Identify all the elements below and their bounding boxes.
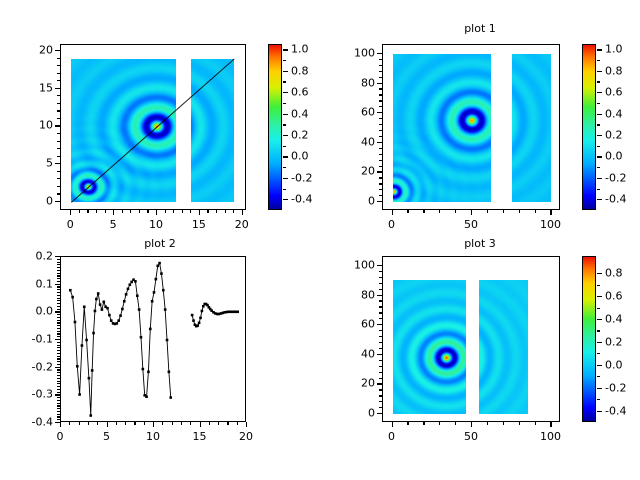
data-point-marker	[192, 319, 195, 322]
xtick-minor-plot-2	[134, 422, 135, 425]
data-point-marker	[191, 314, 194, 317]
data-point-marker	[155, 278, 158, 281]
ytick-label-plot-0-4: 20	[39, 44, 53, 57]
ytick-minor-plot-1	[379, 77, 382, 78]
xtick-major-plot-2-0	[60, 422, 61, 427]
xtick-minor-plot-0	[130, 210, 131, 213]
ytick-minor-plot-2	[57, 264, 60, 265]
colorbar-tick-minor-plot-1	[597, 146, 600, 147]
ytick-minor-plot-2	[57, 336, 60, 337]
ytick-minor-plot-2	[57, 350, 60, 351]
ytick-label-plot-2-6: 0.2	[36, 250, 54, 263]
ytick-minor-plot-1	[379, 71, 382, 72]
ytick-minor-plot-0	[57, 103, 60, 104]
colorbar-tick-plot-0-1	[283, 178, 288, 179]
data-point-marker	[117, 319, 120, 322]
plot-frame-plot-0	[60, 44, 246, 210]
data-point-marker	[158, 262, 161, 265]
ytick-label-plot-3-0: 0	[368, 407, 375, 420]
ytick-minor-plot-2	[57, 375, 60, 376]
ytick-major-plot-1-2	[377, 142, 382, 143]
ytick-minor-plot-2	[57, 303, 60, 304]
xtick-major-plot-3-1	[471, 422, 472, 427]
ytick-minor-plot-2	[57, 419, 60, 420]
ytick-minor-plot-3	[379, 300, 382, 301]
xtick-minor-plot-0	[225, 210, 226, 213]
heatmap-block-plot-0-0	[71, 59, 176, 202]
xtick-major-plot-2-2	[153, 422, 154, 427]
plot-frame-plot-2	[60, 256, 246, 422]
ytick-minor-plot-2	[57, 345, 60, 346]
ytick-label-plot-2-4: 0.0	[36, 305, 54, 318]
xtick-major-plot-1-1	[471, 210, 472, 215]
data-point-marker	[201, 310, 204, 313]
ytick-minor-plot-2	[57, 342, 60, 343]
xtick-label-plot-2-2: 10	[146, 430, 160, 443]
data-point-marker	[94, 310, 97, 313]
plot-frame-plot-1	[382, 44, 560, 210]
ytick-major-plot-2-2	[55, 367, 60, 368]
data-point-marker	[149, 328, 152, 331]
xtick-minor-plot-0	[165, 210, 166, 213]
colorbar-tick-minor-plot-1	[597, 189, 600, 190]
ytick-minor-plot-3	[379, 378, 382, 379]
ytick-minor-plot-2	[57, 295, 60, 296]
xtick-major-plot-2-4	[246, 422, 247, 427]
colorbar-tick-minor-plot-3	[597, 353, 600, 354]
xtick-minor-plot-0	[122, 210, 123, 213]
ytick-minor-plot-2	[57, 383, 60, 384]
xtick-minor-plot-0	[207, 210, 208, 213]
ytick-minor-plot-3	[379, 372, 382, 373]
ytick-minor-plot-3	[379, 401, 382, 402]
ytick-minor-plot-1	[379, 148, 382, 149]
xtick-major-plot-2-1	[107, 422, 108, 427]
heatmap-image-plot-0-0	[71, 59, 176, 202]
data-point-marker	[76, 365, 79, 368]
xtick-major-plot-0-2	[156, 210, 157, 215]
ytick-minor-plot-1	[379, 130, 382, 131]
ytick-major-plot-1-0	[377, 201, 382, 202]
heatmap-image-plot-1-1	[512, 54, 551, 202]
data-point-marker	[142, 368, 145, 371]
data-point-marker	[108, 314, 111, 317]
colorbar-label-plot-3-2: 0.0	[605, 358, 623, 371]
ytick-label-plot-1-5: 100	[354, 46, 375, 59]
colorbar-label-plot-3-3: 0.2	[605, 335, 623, 348]
panel-title-plot-3: plot 3	[320, 237, 640, 250]
ytick-label-plot-2-5: 0.1	[36, 277, 54, 290]
data-point-marker	[156, 265, 159, 268]
ytick-minor-plot-2	[57, 378, 60, 379]
colorbar-tick-plot-1-0	[597, 199, 602, 200]
ytick-minor-plot-2	[57, 403, 60, 404]
colorbar-tick-minor-plot-0	[283, 146, 286, 147]
ytick-label-plot-2-3: -0.1	[32, 333, 53, 346]
ytick-minor-plot-1	[379, 195, 382, 196]
xtick-minor-plot-2	[162, 422, 163, 425]
xtick-minor-plot-2	[116, 422, 117, 425]
colorbar-tick-plot-3-3	[597, 342, 602, 343]
panel-lineplot-plot-2: plot 2 -0.4-0.3-0.2-0.10.00.10.205101520	[0, 236, 320, 480]
xtick-minor-plot-1	[439, 210, 440, 213]
ytick-minor-plot-2	[57, 369, 60, 370]
xtick-label-plot-3-2: 100	[540, 430, 561, 443]
heatmap-image-plot-1-0	[393, 54, 491, 202]
data-point-marker	[166, 339, 169, 342]
ytick-major-plot-3-1	[377, 383, 382, 384]
ytick-minor-plot-2	[57, 270, 60, 271]
data-point-marker	[129, 283, 132, 286]
data-point-marker	[74, 321, 77, 324]
xtick-minor-plot-3	[535, 422, 536, 425]
data-point-marker	[160, 272, 163, 275]
xtick-major-plot-0-1	[113, 210, 114, 215]
colorbar-label-plot-3-6: 0.8	[605, 267, 623, 280]
ytick-minor-plot-2	[57, 317, 60, 318]
ytick-minor-plot-3	[379, 330, 382, 331]
data-point-marker	[147, 371, 150, 374]
heatmap-block-plot-0-1	[191, 59, 234, 202]
xtick-minor-plot-3	[439, 422, 440, 425]
data-point-marker	[101, 308, 104, 311]
ytick-minor-plot-3	[379, 407, 382, 408]
colorbar-tick-minor-plot-0	[283, 103, 286, 104]
ytick-minor-plot-1	[379, 106, 382, 107]
data-point-marker	[134, 280, 137, 283]
xtick-minor-plot-2	[69, 422, 70, 425]
xtick-major-plot-0-4	[242, 210, 243, 215]
xtick-label-plot-3-0: 0	[388, 430, 395, 443]
colorbar-plot-0	[268, 44, 282, 210]
ytick-minor-plot-2	[57, 358, 60, 359]
ytick-minor-plot-3	[379, 395, 382, 396]
ytick-minor-plot-3	[379, 366, 382, 367]
ytick-major-plot-2-3	[55, 339, 60, 340]
ytick-minor-plot-0	[57, 118, 60, 119]
ytick-minor-plot-1	[379, 160, 382, 161]
ytick-minor-plot-0	[57, 148, 60, 149]
data-point-marker	[119, 314, 122, 317]
xtick-label-plot-0-4: 20	[235, 218, 249, 231]
data-point-marker	[110, 319, 113, 322]
xtick-minor-plot-3	[487, 422, 488, 425]
xtick-minor-plot-1	[519, 210, 520, 213]
ytick-minor-plot-2	[57, 389, 60, 390]
ytick-major-plot-2-4	[55, 311, 60, 312]
ytick-major-plot-2-5	[55, 284, 60, 285]
ytick-minor-plot-2	[57, 331, 60, 332]
colorbar-tick-plot-3-1	[597, 388, 602, 389]
colorbar-label-plot-1-3: 0.2	[605, 129, 623, 142]
xtick-major-plot-0-0	[70, 210, 71, 215]
ytick-minor-plot-2	[57, 364, 60, 365]
ytick-minor-plot-0	[57, 133, 60, 134]
ytick-major-plot-1-1	[377, 171, 382, 172]
ytick-minor-plot-3	[379, 389, 382, 390]
heatmap-image-plot-0-1	[191, 59, 234, 202]
ytick-minor-plot-2	[57, 286, 60, 287]
ytick-minor-plot-3	[379, 271, 382, 272]
colorbar-tick-plot-3-0	[597, 411, 602, 412]
colorbar-tick-plot-0-2	[283, 156, 288, 157]
data-point-marker	[99, 303, 102, 306]
ytick-minor-plot-1	[379, 88, 382, 89]
data-point-marker	[236, 310, 239, 313]
colorbar-tick-plot-1-3	[597, 135, 602, 136]
panel-title-plot-1: plot 1	[320, 22, 640, 35]
data-point-marker	[106, 307, 109, 310]
ytick-minor-plot-2	[57, 353, 60, 354]
ytick-minor-plot-3	[379, 277, 382, 278]
ytick-minor-plot-3	[379, 283, 382, 284]
colorbar-tick-plot-1-2	[597, 156, 602, 157]
ytick-minor-plot-0	[57, 80, 60, 81]
ytick-minor-plot-1	[379, 124, 382, 125]
colorbar-label-plot-3-5: 0.6	[605, 290, 623, 303]
xtick-label-plot-0-1: 5	[110, 218, 117, 231]
ytick-minor-plot-2	[57, 400, 60, 401]
xtick-label-plot-2-1: 5	[103, 430, 110, 443]
ytick-major-plot-3-4	[377, 295, 382, 296]
ytick-minor-plot-2	[57, 278, 60, 279]
data-point-marker	[198, 322, 201, 325]
ytick-minor-plot-2	[57, 392, 60, 393]
heatmap-block-plot-3-0	[393, 280, 466, 414]
colorbar-label-plot-3-0: -0.4	[605, 404, 626, 417]
colorbar-tick-minor-plot-0	[283, 81, 286, 82]
colorbar-label-plot-0-7: 1.0	[291, 43, 309, 56]
data-point-marker	[140, 336, 143, 339]
colorbar-tick-minor-plot-0	[283, 189, 286, 190]
xtick-minor-plot-3	[423, 422, 424, 425]
colorbar-tick-minor-plot-0	[283, 167, 286, 168]
xtick-minor-plot-2	[79, 422, 80, 425]
ytick-minor-plot-2	[57, 333, 60, 334]
data-point-marker	[199, 317, 202, 320]
ytick-minor-plot-0	[57, 110, 60, 111]
data-point-marker	[169, 396, 172, 399]
data-point-marker	[83, 306, 86, 309]
data-point-marker	[88, 377, 91, 380]
ytick-minor-plot-0	[57, 171, 60, 172]
data-point-marker	[136, 294, 139, 297]
xtick-minor-plot-0	[182, 210, 183, 213]
colorbar-tick-plot-3-4	[597, 319, 602, 320]
ytick-minor-plot-1	[379, 65, 382, 66]
ytick-label-plot-0-0: 0	[46, 194, 53, 207]
xtick-minor-plot-0	[147, 210, 148, 213]
ytick-minor-plot-3	[379, 348, 382, 349]
ytick-major-plot-1-3	[377, 112, 382, 113]
data-point-marker	[121, 308, 124, 311]
xtick-minor-plot-0	[79, 210, 80, 213]
colorbar-label-plot-0-0: -0.4	[291, 193, 312, 206]
data-point-marker	[116, 322, 119, 325]
xtick-minor-plot-2	[172, 422, 173, 425]
colorbar-tick-minor-plot-3	[597, 285, 600, 286]
heatmap-image-plot-3-1	[479, 280, 528, 414]
panel-heatmap-plot-3: plot 3 020406080100050100-0.4-0.20.00.20…	[320, 236, 640, 480]
ytick-major-plot-3-0	[377, 413, 382, 414]
xtick-label-plot-3-1: 50	[464, 430, 478, 443]
data-point-marker	[69, 289, 72, 292]
ytick-minor-plot-2	[57, 328, 60, 329]
colorbar-tick-plot-1-5	[597, 92, 602, 93]
xtick-minor-plot-1	[535, 210, 536, 213]
ytick-minor-plot-2	[57, 306, 60, 307]
colorbar-tick-plot-1-1	[597, 178, 602, 179]
xtick-minor-plot-3	[407, 422, 408, 425]
ytick-minor-plot-3	[379, 289, 382, 290]
ytick-label-plot-3-2: 40	[361, 347, 375, 360]
ytick-minor-plot-2	[57, 347, 60, 348]
ytick-label-plot-3-3: 60	[361, 318, 375, 331]
colorbar-label-plot-0-6: 0.8	[291, 64, 309, 77]
data-point-marker	[202, 305, 205, 308]
heatmap-image-plot-3-0	[393, 280, 466, 414]
xtick-major-plot-1-0	[392, 210, 393, 215]
ytick-minor-plot-2	[57, 309, 60, 310]
colorbar-tick-minor-plot-3	[597, 330, 600, 331]
ytick-label-plot-1-0: 0	[368, 195, 375, 208]
ytick-minor-plot-2	[57, 298, 60, 299]
ytick-minor-plot-2	[57, 386, 60, 387]
ytick-minor-plot-2	[57, 405, 60, 406]
ytick-minor-plot-2	[57, 320, 60, 321]
panel-title-plot-2: plot 2	[0, 237, 320, 250]
ytick-minor-plot-2	[57, 372, 60, 373]
xtick-minor-plot-1	[455, 210, 456, 213]
lineplot-series-group	[61, 257, 247, 423]
colorbar-plot-1	[582, 44, 596, 210]
xtick-minor-plot-0	[173, 210, 174, 213]
plot-frame-plot-3	[382, 256, 560, 422]
xtick-minor-plot-0	[216, 210, 217, 213]
ytick-minor-plot-3	[379, 318, 382, 319]
colorbar-tick-minor-plot-1	[597, 103, 600, 104]
ytick-label-plot-2-0: -0.4	[32, 416, 53, 429]
ytick-minor-plot-2	[57, 397, 60, 398]
colorbar-tick-plot-3-2	[597, 365, 602, 366]
xtick-minor-plot-0	[105, 210, 106, 213]
ytick-minor-plot-0	[57, 65, 60, 66]
xtick-minor-plot-0	[87, 210, 88, 213]
ytick-major-plot-0-0	[55, 201, 60, 202]
data-point-marker	[97, 292, 100, 295]
ytick-minor-plot-0	[57, 156, 60, 157]
ytick-major-plot-0-4	[55, 50, 60, 51]
colorbar-label-plot-1-7: 1.0	[605, 43, 623, 56]
panel-heatmap-top-left: 0510152005101520-0.4-0.20.00.20.40.60.81…	[0, 20, 320, 250]
panel-heatmap-top-right: plot 1 020406080100050100-0.4-0.20.00.20…	[320, 20, 640, 250]
ytick-major-plot-1-5	[377, 53, 382, 54]
colorbar-label-plot-0-3: 0.2	[291, 129, 309, 142]
colorbar-tick-minor-plot-1	[597, 167, 600, 168]
ytick-minor-plot-3	[379, 306, 382, 307]
ytick-minor-plot-2	[57, 322, 60, 323]
colorbar-tick-minor-plot-3	[597, 376, 600, 377]
data-point-marker	[196, 324, 199, 327]
ytick-label-plot-3-4: 80	[361, 288, 375, 301]
ytick-minor-plot-0	[57, 73, 60, 74]
colorbar-label-plot-1-2: 0.0	[605, 150, 623, 163]
xtick-label-plot-0-0: 0	[67, 218, 74, 231]
data-point-marker	[85, 339, 88, 342]
colorbar-tick-plot-1-6	[597, 71, 602, 72]
ytick-label-plot-2-2: -0.2	[32, 360, 53, 373]
ytick-minor-plot-1	[379, 154, 382, 155]
ytick-minor-plot-1	[379, 59, 382, 60]
ytick-minor-plot-0	[57, 141, 60, 142]
ytick-minor-plot-2	[57, 414, 60, 415]
xtick-major-plot-1-2	[550, 210, 551, 215]
ytick-minor-plot-0	[57, 186, 60, 187]
colorbar-tick-plot-0-5	[283, 92, 288, 93]
colorbar-label-plot-3-1: -0.2	[605, 381, 626, 394]
data-point-marker	[89, 414, 92, 417]
ytick-minor-plot-0	[57, 95, 60, 96]
ytick-minor-plot-2	[57, 262, 60, 263]
ytick-minor-plot-3	[379, 336, 382, 337]
xtick-label-plot-1-1: 50	[464, 218, 478, 231]
data-point-marker	[125, 293, 128, 296]
xtick-minor-plot-1	[407, 210, 408, 213]
ytick-label-plot-3-1: 20	[361, 377, 375, 390]
colorbar-label-plot-0-4: 0.4	[291, 107, 309, 120]
data-point-marker	[91, 369, 94, 372]
xtick-label-plot-2-3: 15	[193, 430, 207, 443]
colorbar-label-plot-1-5: 0.6	[605, 86, 623, 99]
figure-canvas: 0510152005101520-0.4-0.20.00.20.40.60.81…	[0, 0, 640, 480]
ytick-major-plot-0-2	[55, 125, 60, 126]
colorbar-tick-minor-plot-1	[597, 60, 600, 61]
data-point-marker	[123, 300, 126, 303]
colorbar-tick-plot-0-4	[283, 114, 288, 115]
ytick-minor-plot-0	[57, 193, 60, 194]
xtick-minor-plot-1	[503, 210, 504, 213]
xtick-minor-plot-2	[190, 422, 191, 425]
ytick-minor-plot-2	[57, 292, 60, 293]
ytick-minor-plot-1	[379, 118, 382, 119]
ytick-minor-plot-2	[57, 281, 60, 282]
xtick-minor-plot-2	[181, 422, 182, 425]
ytick-major-plot-2-1	[55, 394, 60, 395]
xtick-minor-plot-0	[190, 210, 191, 213]
xtick-minor-plot-0	[139, 210, 140, 213]
ytick-minor-plot-2	[57, 275, 60, 276]
ytick-label-plot-1-4: 80	[361, 76, 375, 89]
data-point-marker	[92, 332, 95, 335]
ytick-minor-plot-2	[57, 273, 60, 274]
ytick-label-plot-0-2: 10	[39, 119, 53, 132]
xtick-major-plot-3-0	[392, 422, 393, 427]
data-point-marker	[151, 300, 154, 303]
ytick-minor-plot-3	[379, 360, 382, 361]
ytick-minor-plot-2	[57, 411, 60, 412]
ytick-label-plot-2-1: -0.3	[32, 388, 53, 401]
ytick-label-plot-0-3: 15	[39, 81, 53, 94]
data-point-marker	[153, 291, 156, 294]
ytick-minor-plot-2	[57, 356, 60, 357]
colorbar-tick-plot-1-4	[597, 114, 602, 115]
xtick-minor-plot-1	[487, 210, 488, 213]
xtick-minor-plot-0	[233, 210, 234, 213]
data-point-marker	[102, 301, 105, 304]
xtick-minor-plot-2	[209, 422, 210, 425]
xtick-minor-plot-2	[227, 422, 228, 425]
ytick-minor-plot-1	[379, 94, 382, 95]
